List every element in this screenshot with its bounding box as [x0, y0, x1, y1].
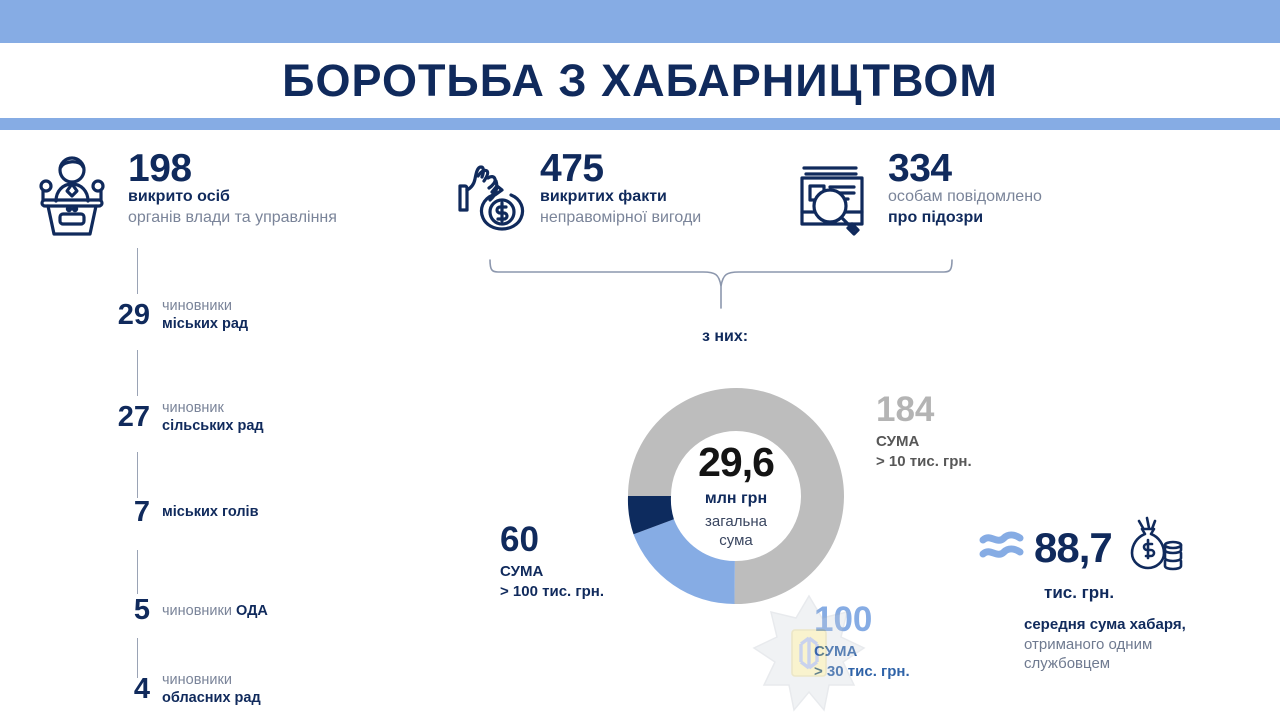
stat-label-bold: викрито осіб — [128, 187, 337, 207]
list-item-label-light: чиновники — [162, 672, 261, 690]
average-value: 88,7 — [1034, 527, 1112, 569]
stat-text: 475 викритих факти неправомірної вигоди — [540, 148, 701, 228]
donut-label-over-10k: 184 СУМА > 10 тис. грн. — [876, 392, 972, 471]
average-bribe-block: 88,7 тис. грн. середня сума хабаря, отри… — [978, 515, 1268, 674]
list-item-label-bold: сільських рад — [162, 418, 264, 436]
list-item-text: чиновник сільських рад — [162, 400, 264, 435]
connector-line — [137, 350, 138, 396]
average-desc-bold: середня сума хабаря, — [1024, 615, 1268, 635]
list-item-regional-councils: 4 чиновники обласних рад — [104, 672, 261, 707]
header-band-top — [0, 0, 1280, 43]
donut-label-value: 60 — [500, 522, 604, 557]
donut-slice-blue[interactable] — [634, 519, 735, 604]
money-bag-coins-icon — [1120, 515, 1184, 580]
stat-label-light: неправомірної вигоди — [540, 208, 701, 228]
donut-label-line1: СУМА — [814, 642, 910, 662]
list-item-text: міських голів — [162, 504, 259, 522]
document-magnifier-icon — [786, 148, 878, 245]
list-item-number: 5 — [104, 596, 150, 625]
stat-text: 334 особам повідомлено про підозри — [888, 148, 1042, 228]
podium-speaker-icon — [26, 148, 118, 245]
donut-label-value: 184 — [876, 392, 972, 427]
average-description: середня сума хабаря, отриманого одним сл… — [1024, 615, 1268, 674]
donut-svg — [606, 366, 866, 626]
stat-block-suspicion-notices: 334 особам повідомлено про підозри — [786, 148, 1116, 245]
list-item-village-councils: 27 чиновник сільських рад — [104, 400, 264, 435]
average-row: 88,7 — [978, 515, 1268, 580]
stat-number: 198 — [128, 150, 337, 187]
stat-label-bold: про підозри — [888, 208, 1042, 228]
list-item-label-bold: міських голів — [162, 504, 259, 522]
list-item-text: чиновники обласних рад — [162, 672, 261, 707]
list-item-oda-officials: 5 чиновники ОДА — [104, 596, 268, 625]
stat-block-discovered-persons: 198 викрито осіб органів влади та управл… — [26, 148, 426, 245]
donut-label-over-100k: 60 СУМА > 100 тис. грн. — [500, 522, 604, 601]
page-title: БОРОТЬБА З ХАБАРНИЦТВОМ — [0, 48, 1280, 114]
list-item-text: чиновники ОДА — [162, 601, 268, 621]
average-desc-line3: службовцем — [1024, 654, 1268, 674]
donut-label-line1: СУМА — [876, 432, 972, 452]
stat-number: 334 — [888, 150, 1042, 187]
connector-line — [137, 248, 138, 294]
infographic-canvas: БОРОТЬБА З ХАБАРНИЦТВОМ 198 викрито осіб… — [0, 0, 1280, 720]
donut-label-line2: > 100 тис. грн. — [500, 582, 604, 602]
donut-label-value: 100 — [814, 602, 910, 637]
header-band-bottom — [0, 118, 1280, 130]
list-item-label-bold: обласних рад — [162, 690, 261, 708]
donut-label-line1: СУМА — [500, 562, 604, 582]
list-item-label-light: чиновники — [162, 298, 248, 316]
list-item-number: 29 — [104, 301, 150, 330]
list-item-city-mayors: 7 міських голів — [104, 498, 259, 527]
donut-chart — [606, 366, 866, 626]
stat-block-bribery-facts: 475 викритих факти неправомірної вигоди — [438, 148, 778, 245]
approximately-equal-icon — [978, 528, 1026, 567]
average-unit: тис. грн. — [1044, 583, 1268, 603]
donut-label-over-30k: 100 СУМА > 30 тис. грн. — [814, 602, 910, 681]
average-desc-line2: отриманого одним — [1024, 635, 1268, 655]
list-item-number: 4 — [104, 675, 150, 704]
list-item-city-councils: 29 чиновники міських рад — [104, 298, 248, 333]
list-item-label-light: чиновник — [162, 400, 264, 418]
list-item-label-bold: міських рад — [162, 316, 248, 334]
connector-line — [137, 550, 138, 594]
donut-label-line2: > 30 тис. грн. — [814, 662, 910, 682]
list-item-text: чиновники міських рад — [162, 298, 248, 333]
stat-text: 198 викрито осіб органів влади та управл… — [128, 148, 337, 228]
stat-label-bold: викритих факти — [540, 187, 701, 207]
hand-money-bag-icon — [438, 148, 530, 245]
list-item-label-mixed: чиновники ОДА — [162, 601, 268, 621]
donut-label-line2: > 10 тис. грн. — [876, 452, 972, 472]
stat-label-light: органів влади та управління — [128, 208, 337, 228]
brace-connector — [486, 258, 956, 318]
list-item-number: 27 — [104, 403, 150, 432]
brace-label: з них: — [620, 328, 830, 346]
stat-label-light: особам повідомлено — [888, 187, 1042, 207]
list-item-label-light: чиновники — [162, 603, 236, 619]
list-item-number: 7 — [104, 498, 150, 527]
stat-number: 475 — [540, 150, 701, 187]
list-item-label-bold: ОДА — [236, 603, 268, 619]
connector-line — [137, 452, 138, 498]
